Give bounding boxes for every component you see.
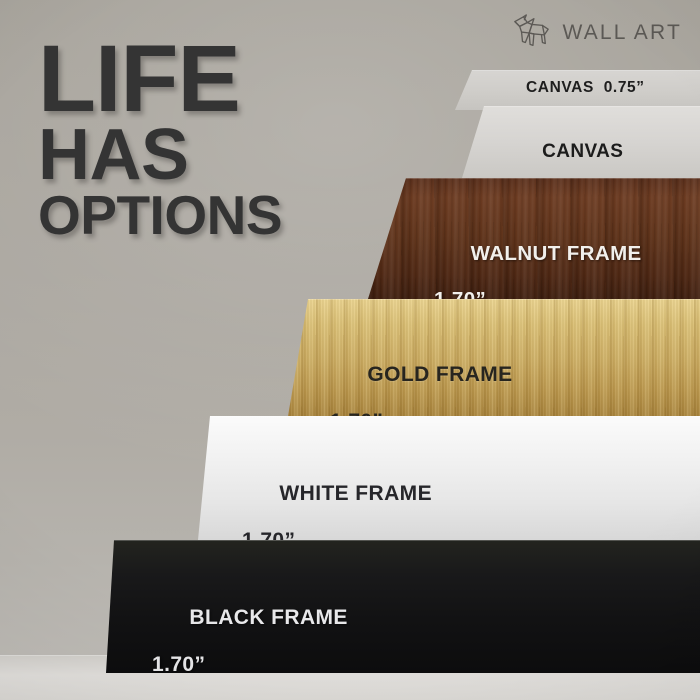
product-material-white-frame: WHITE FRAME [279, 482, 432, 505]
product-option-canvas-150[interactable]: CANVAS 1.50” [462, 106, 700, 178]
slab-top-highlight [368, 178, 700, 179]
brand-name: WALL ART [562, 21, 682, 45]
headline-line-2: HAS [38, 124, 282, 187]
product-label-black-frame: BLACK FRAME 1.70” [152, 582, 348, 673]
brand-logo[interactable]: WALL ART [511, 14, 682, 52]
product-options-poster: WALL ART LIFE HAS OPTIONS CANVAS 0.75” C… [0, 0, 700, 700]
origami-goat-icon [511, 14, 553, 52]
product-depth-black-frame: 1.70” [152, 653, 348, 673]
slab-top-highlight [288, 299, 700, 300]
slab-top-highlight [462, 106, 700, 107]
product-label-canvas-075: CANVAS 0.75” [526, 79, 645, 96]
product-material-walnut-frame: WALNUT FRAME [471, 242, 642, 265]
product-option-gold-frame[interactable]: GOLD FRAME 1.70” [288, 299, 700, 416]
product-depth-white-frame: 1.70” [242, 529, 432, 540]
product-depth-walnut-frame: 1.70” [434, 289, 642, 299]
product-label-gold-frame: GOLD FRAME 1.70” [330, 339, 513, 416]
product-option-white-frame[interactable]: WHITE FRAME 1.70” [198, 416, 700, 540]
product-option-black-frame[interactable]: BLACK FRAME 1.70” [106, 540, 700, 673]
product-label-walnut-frame: WALNUT FRAME 1.70” [434, 220, 642, 299]
product-option-walnut-frame[interactable]: WALNUT FRAME 1.70” [368, 178, 700, 299]
product-material-gold-frame: GOLD FRAME [367, 363, 512, 386]
product-label-canvas-150: CANVAS 1.50” [508, 120, 623, 178]
product-label-white-frame: WHITE FRAME 1.70” [242, 458, 432, 540]
product-depth-gold-frame: 1.70” [330, 410, 513, 416]
page-title: LIFE HAS OPTIONS [38, 38, 282, 239]
slab-top-highlight [198, 416, 700, 417]
product-material-black-frame: BLACK FRAME [189, 606, 347, 629]
product-material-canvas-150: CANVAS [542, 141, 623, 162]
slab-top-highlight [106, 540, 700, 541]
product-option-canvas-075[interactable]: CANVAS 0.75” [455, 70, 700, 110]
slab-top-highlight [455, 70, 700, 71]
headline-line-3: OPTIONS [38, 191, 282, 239]
headline-line-1: LIFE [38, 38, 282, 122]
